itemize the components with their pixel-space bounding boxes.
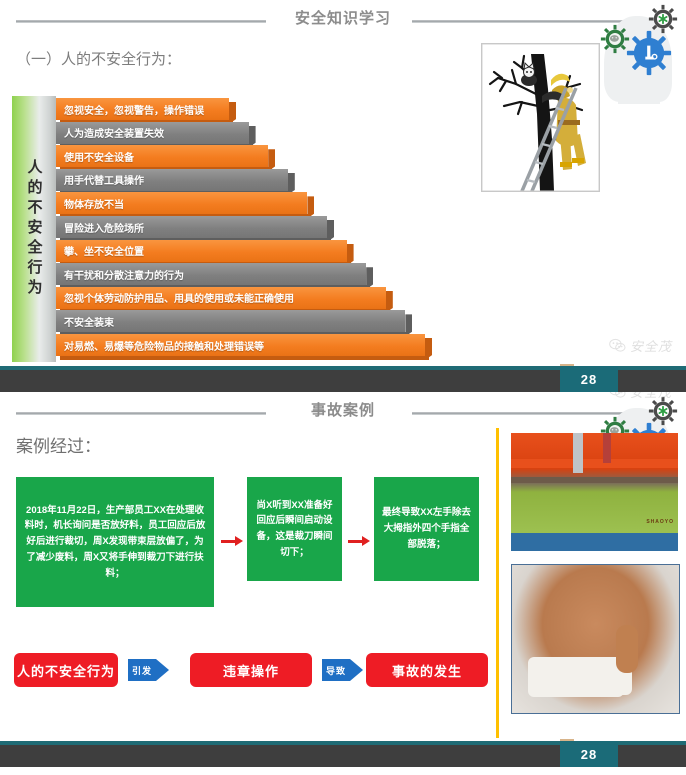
- wechat-icon: [609, 338, 626, 353]
- case-arrow-1: [221, 536, 243, 546]
- slide-header-bottom: 事故案例: [0, 400, 686, 426]
- vertical-divider: [496, 428, 499, 738]
- chart-step-7: 攀、坐不安全位置: [56, 240, 347, 262]
- machine-piston: [573, 433, 583, 473]
- flow-connector-1: 引发: [128, 659, 169, 681]
- chart-step-label: 有干扰和分散注意力的行为: [56, 267, 184, 282]
- section-heading-top: （一）人的不安全行为：: [16, 48, 181, 69]
- thumb-shape: [616, 625, 638, 673]
- chart-step-face: 人为造成安全装置失效: [56, 122, 249, 144]
- machine-base: [511, 533, 678, 551]
- watermark-bottom: 安全茂: [609, 392, 672, 401]
- chart-step-label: 使用不安全设备: [56, 149, 134, 164]
- machine-beam-1: [511, 459, 678, 468]
- illustration-ladder-tree: [481, 43, 600, 192]
- chart-step-5: 物体存放不当: [56, 192, 307, 214]
- flow-connector-2: 导致: [322, 659, 363, 681]
- flow-node-1: 人的不安全行为: [14, 653, 118, 687]
- case-arrow-2: [348, 536, 370, 546]
- chart-step-face: 忽视个体劳动防护用品、用具的使用或未能正确使用: [56, 287, 386, 309]
- chart-step-label: 攀、坐不安全位置: [56, 243, 144, 258]
- chart-step-face: 使用不安全设备: [56, 145, 268, 167]
- chart-axis-label-text: 人的不安全行为: [12, 96, 56, 362]
- chart-step-11: 对易燃、易爆等危险物品的接触和处理错误等: [56, 334, 425, 356]
- chart-step-label: 冒险进入危险场所: [56, 220, 144, 235]
- chart-step-face: 冒险进入危险场所: [56, 216, 327, 238]
- arrow-head: [235, 536, 243, 546]
- head-neck-shape: [618, 76, 660, 104]
- chart-step-9: 忽视个体劳动防护用品、用具的使用或未能正确使用: [56, 287, 386, 309]
- chart-steps: 忽视安全，忽视警告，操作错误人为造成安全装置失效使用不安全设备用手代替工具操作物…: [56, 96, 460, 362]
- page-title-bottom: 事故案例: [0, 400, 686, 422]
- chart-step-face: 用手代替工具操作: [56, 169, 288, 191]
- chart-step-label: 对易燃、易爆等危险物品的接触和处理错误等: [56, 338, 264, 353]
- arrow-shaft: [348, 540, 362, 543]
- chart-step-label: 用手代替工具操作: [56, 172, 144, 187]
- chart-step-label: 忽视安全，忽视警告，操作错误: [56, 102, 204, 117]
- wechat-icon-bottom: [609, 392, 626, 399]
- unsafe-behaviour-staircase-chart: 人的不安全行为 忽视安全，忽视警告，操作错误人为造成安全装置失效使用不安全设备用…: [12, 96, 460, 362]
- chart-step-label: 不安全装束: [56, 314, 114, 329]
- slide-header-top: 安全知识学习: [0, 8, 686, 34]
- chart-step-face: 对易燃、易爆等危险物品的接触和处理错误等: [56, 334, 425, 356]
- flow-connector-tip-2: [350, 659, 363, 681]
- flow-connector-tip-1: [156, 659, 169, 681]
- photo-injured-hand: [511, 564, 680, 714]
- chart-step-face: 物体存放不当: [56, 192, 307, 214]
- chart-step-1: 忽视安全，忽视警告，操作错误: [56, 98, 229, 120]
- chart-step-8: 有干扰和分散注意力的行为: [56, 263, 366, 285]
- chart-step-face: 忽视安全，忽视警告，操作错误: [56, 98, 229, 120]
- case-step-box-2: 尚X听到XX准备好回应后瞬间启动设备，这是裁刀瞬间切下；: [247, 477, 342, 581]
- machine-beam-2: [511, 477, 678, 483]
- slide-safety-knowledge: 安全知识学习: [0, 0, 686, 392]
- arrow-shaft: [221, 540, 235, 543]
- photo-cutting-machine: SHAOYO: [511, 433, 678, 551]
- header-rule-right-bottom: [412, 412, 670, 415]
- chart-step-face: 不安全装束: [56, 310, 405, 332]
- watermark-text-bottom: 安全茂: [630, 392, 672, 401]
- machine-column: [603, 433, 611, 463]
- chart-step-2: 人为造成安全装置失效: [56, 122, 249, 144]
- header-rule-right: [412, 20, 670, 23]
- page-number-badge-bottom: 28: [560, 741, 618, 767]
- arrow-head: [362, 536, 370, 546]
- flow-connector-label-1: 引发: [128, 659, 156, 681]
- chart-axis-label-bar: 人的不安全行为: [12, 96, 56, 362]
- chart-step-label: 人为造成安全装置失效: [56, 125, 164, 140]
- chart-step-face: 攀、坐不安全位置: [56, 240, 347, 262]
- chart-step-4: 用手代替工具操作: [56, 169, 288, 191]
- chart-step-label: 物体存放不当: [56, 196, 124, 211]
- flow-node-2: 违章操作: [190, 653, 312, 687]
- page-title: 安全知识学习: [0, 8, 686, 30]
- case-step-box-1: 2018年11月22日，生产部员工XX在处理收料时，机长询问是否放好料，员工回应…: [16, 477, 214, 607]
- watermark-top: 安全茂: [609, 336, 672, 355]
- chart-step-6: 冒险进入危险场所: [56, 216, 327, 238]
- chart-step-label: 忽视个体劳动防护用品、用具的使用或未能正确使用: [56, 290, 294, 305]
- watermark-text-top: 安全茂: [630, 336, 672, 355]
- section-heading-bottom: 案例经过：: [16, 432, 101, 457]
- flow-node-3: 事故的发生: [366, 653, 488, 687]
- chart-step-face: 有干扰和分散注意力的行为: [56, 263, 366, 285]
- chart-step-shadow: [60, 356, 429, 360]
- gear-blue-icon: [626, 30, 672, 76]
- chart-step-10: 不安全装束: [56, 310, 405, 332]
- flow-connector-label-2: 导致: [322, 659, 350, 681]
- case-step-box-3: 最终导致XX左手除去大拇指外四个手指全部脱落；: [374, 477, 479, 581]
- page-number-badge-top: 28: [560, 366, 618, 392]
- slide-accident-case: 事故案例: [0, 392, 686, 775]
- photo-watermark-machine: SHAOYO: [646, 519, 674, 525]
- chart-step-3: 使用不安全设备: [56, 145, 268, 167]
